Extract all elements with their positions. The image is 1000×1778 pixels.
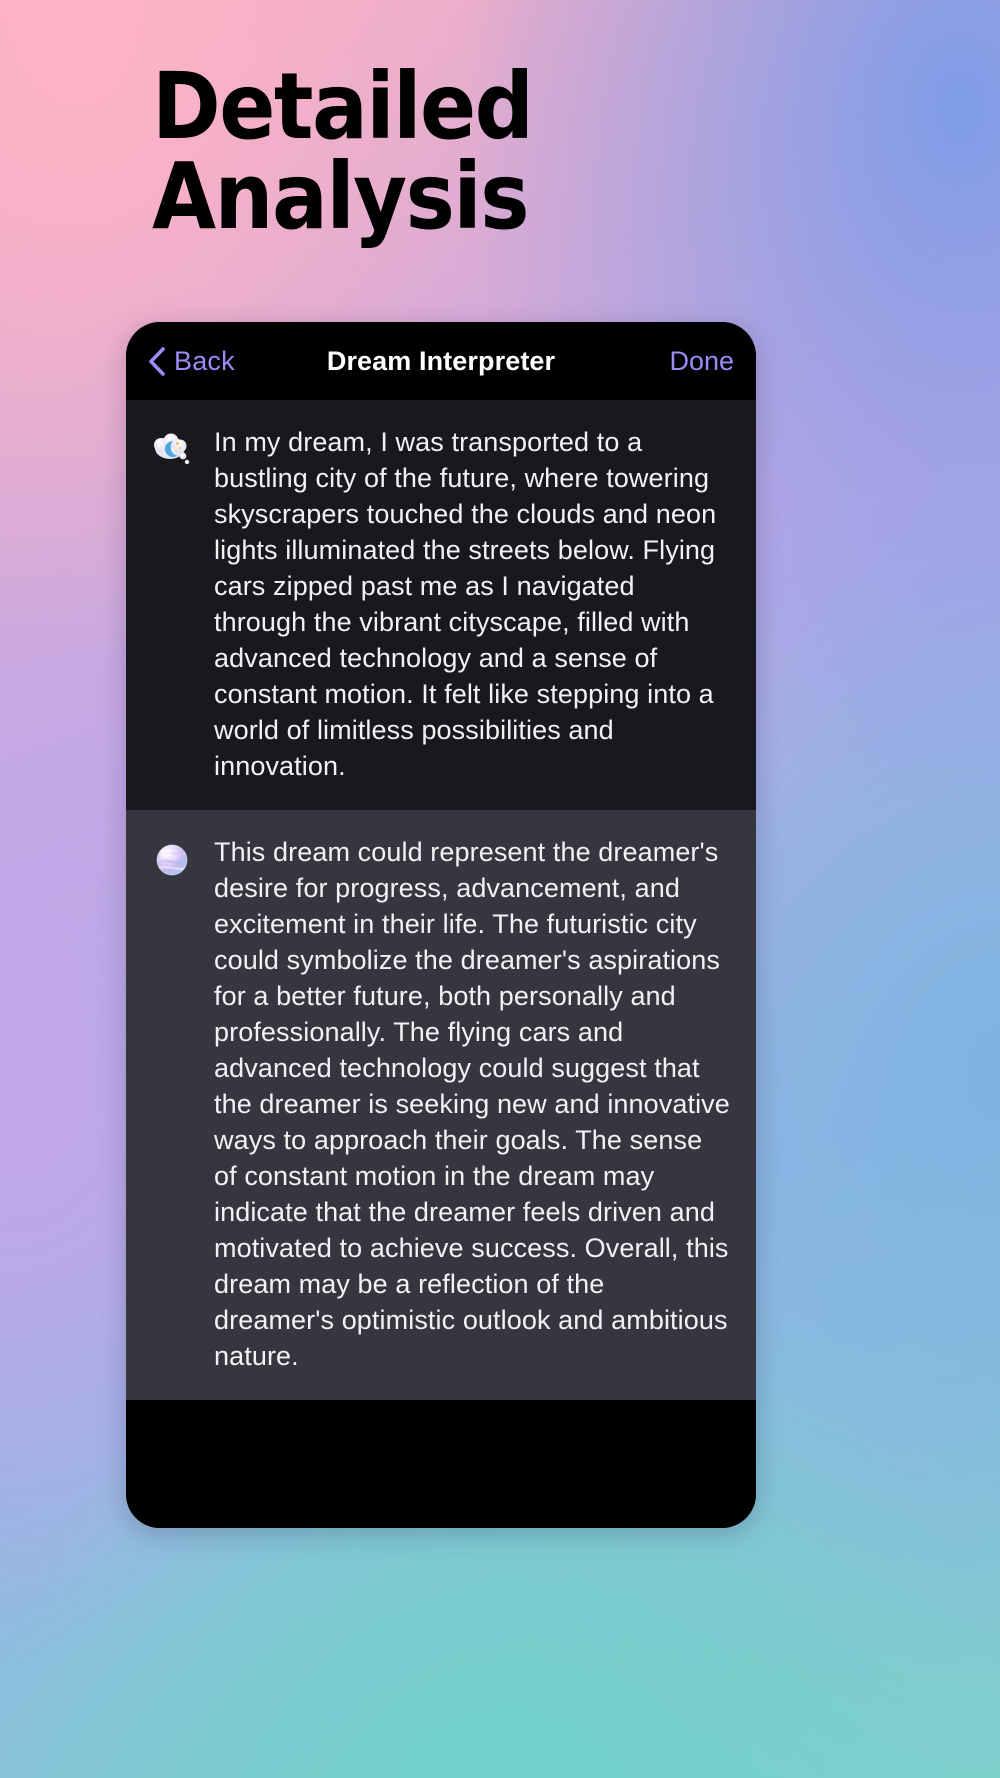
phone-mockup: Back Dream Interpreter Done bbox=[126, 322, 756, 1528]
iridescent-orb-icon bbox=[152, 840, 192, 880]
message-row-assistant: This dream could represent the dreamer's… bbox=[126, 810, 756, 1400]
done-button[interactable]: Done bbox=[669, 346, 734, 377]
message-row-user: In my dream, I was transported to a bust… bbox=[126, 400, 756, 810]
page-title-line-1: Detailed bbox=[152, 62, 852, 152]
message-text: This dream could represent the dreamer's… bbox=[214, 834, 730, 1374]
message-list: In my dream, I was transported to a bust… bbox=[126, 400, 756, 1402]
thought-balloon-moon-icon bbox=[152, 430, 192, 470]
page-title: Detailed Analysis bbox=[152, 62, 852, 242]
back-button[interactable]: Back bbox=[148, 346, 235, 377]
chevron-left-icon bbox=[148, 347, 165, 376]
message-text: In my dream, I was transported to a bust… bbox=[214, 424, 730, 784]
page-title-line-2: Analysis bbox=[152, 152, 852, 242]
composer-area[interactable] bbox=[126, 1402, 756, 1528]
back-button-label: Back bbox=[174, 346, 235, 377]
navigation-bar: Back Dream Interpreter Done bbox=[126, 322, 756, 400]
